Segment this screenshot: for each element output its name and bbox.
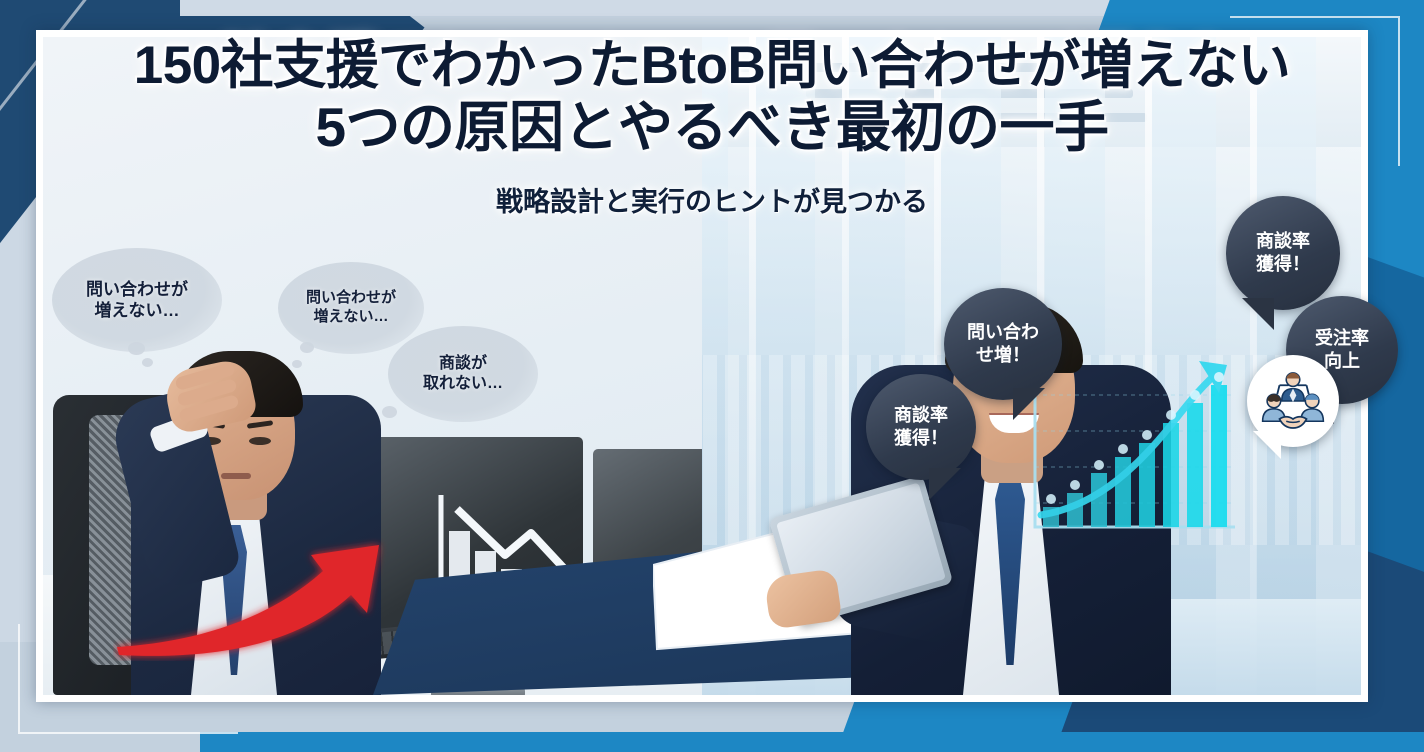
solution-bubble-4-line2: 獲得！ [894, 428, 948, 448]
problem-bubble-2-line2: 増えない… [313, 308, 388, 325]
solution-bubble-3-line2: せ増！ [976, 345, 1030, 365]
team-handshake-bubble [1247, 355, 1339, 447]
problem-bubble-3-line2: 取れない… [423, 375, 503, 392]
solution-bubble-1-line2: 獲得！ [1256, 254, 1310, 274]
team-handshake-icon [1257, 365, 1329, 437]
solution-bubble-2-line2: 向上 [1324, 351, 1360, 371]
problem-bubble-2: 問い合わせが 増えない… [278, 262, 424, 354]
person-mouth [221, 473, 251, 479]
solution-bubble-4: 商談率 獲得！ [866, 374, 976, 480]
bubble-tail-dot [142, 358, 153, 367]
solution-bubble-2-line1: 受注率 [1315, 328, 1369, 348]
title-line-1: 150社支援でわかったBtoB問い合わせが増えない [0, 38, 1424, 93]
bubble-tail-dot [382, 406, 397, 418]
problem-bubble-1-line1: 問い合わせが [86, 280, 188, 299]
red-growth-arrow-icon [113, 521, 413, 661]
solution-bubble-3-line1: 問い合わ [967, 322, 1039, 342]
title-line-2: 5つの原因とやるべき最初の一手 [0, 97, 1424, 158]
solution-bubble-3: 問い合わ せ増！ [944, 288, 1062, 400]
problem-bubble-2-line1: 問い合わせが [306, 289, 396, 306]
solution-bubble-1-line1: 商談率 [1256, 231, 1310, 251]
rising-chart-icon [1021, 355, 1241, 545]
problem-bubble-3: 商談が 取れない… [388, 326, 538, 422]
bubble-tail-dot [292, 360, 302, 368]
problem-bubble-1: 問い合わせが 増えない… [52, 248, 222, 352]
banner-subtitle: 戦略設計と実行のヒントが見つかる [0, 180, 1424, 219]
banner-title-block: 150社支援でわかったBtoB問い合わせが増えない 5つの原因とやるべき最初の一… [0, 38, 1424, 219]
solution-bubble-4-line1: 商談率 [894, 405, 948, 425]
problem-bubble-3-line1: 商談が [439, 355, 487, 372]
background-bottom-blue-strip [60, 732, 1424, 752]
problem-bubble-1-line2: 増えない… [95, 301, 180, 320]
